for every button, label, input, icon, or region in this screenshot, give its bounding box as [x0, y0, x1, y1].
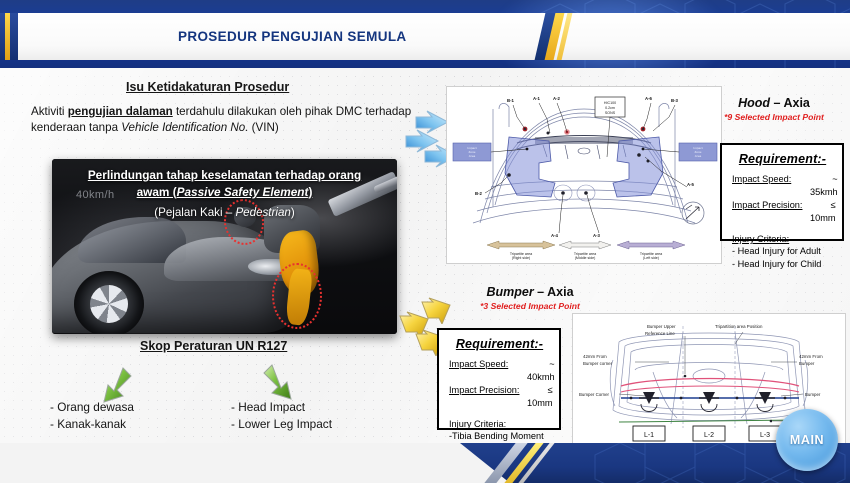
svg-text:HIC100: HIC100 [604, 101, 616, 105]
svg-text:42mm From: 42mm From [583, 354, 607, 359]
svg-text:L-3: L-3 [760, 432, 770, 439]
header-left-accent [5, 13, 10, 60]
scope-list-left: - Orang dewasa - Kanak-kanak [50, 399, 134, 433]
bumper-requirement-box: Requirement:- Impact Speed: ~ 40kmh Impa… [437, 328, 561, 430]
bumper-req-value: ≤ 10mm [527, 384, 555, 410]
photo-title: Perlindungan tahap keselamatan terhadap … [52, 167, 397, 201]
photo-sub-end: ) [291, 206, 295, 219]
photo-title-line2-plain: awam ( [137, 185, 177, 199]
bumper-title-rest: – Axia [534, 285, 574, 299]
list-item: - Head Impact [231, 399, 332, 416]
svg-text:A-3: A-3 [593, 233, 601, 238]
svg-text:A-1: A-1 [533, 96, 541, 101]
issue-text-3: (VIN) [248, 121, 278, 134]
svg-text:B-2: B-2 [475, 191, 483, 196]
svg-text:(Left side): (Left side) [643, 256, 659, 260]
svg-text:Bumper corner: Bumper corner [583, 361, 613, 366]
svg-text:L-2: L-2 [704, 432, 714, 439]
hood-req-value: ~ 35kmh [810, 173, 840, 199]
bumper-req-key: Impact Precision: [449, 384, 527, 410]
page-title: PROSEDUR PENGUJIAN SEMULA [178, 29, 598, 44]
photo-subtitle: (Pejalan Kaki – Pedestrian) [52, 206, 397, 219]
bumper-requirement-heading: Requirement:- [449, 337, 550, 351]
photo-sub-plain: (Pejalan Kaki – [154, 206, 235, 219]
svg-text:Tripartition area Position: Tripartition area Position [715, 324, 763, 329]
photo-title-line1: Perlindungan tahap keselamatan terhadap … [88, 168, 361, 182]
hood-req-key: Impact Precision: [732, 199, 810, 225]
scope-list-right: - Head Impact - Lower Leg Impact [231, 399, 332, 433]
hood-criteria-item: - Head Injury for Adult [732, 245, 833, 258]
svg-text:B-1: B-1 [507, 98, 515, 103]
hood-criteria-item: - Head Injury for Child [732, 258, 833, 271]
svg-text:A-5: A-5 [687, 182, 695, 187]
bumper-criteria-item: -Tibia Bending Moment [449, 430, 550, 443]
svg-text:L-1: L-1 [644, 432, 654, 439]
footer-white-plate [0, 443, 530, 483]
svg-text:A-4: A-4 [551, 233, 559, 238]
issue-paragraph: Aktiviti pengujian dalaman terdahulu dil… [31, 104, 431, 136]
svg-text:0.2cm: 0.2cm [605, 106, 615, 110]
issue-text-bold: pengujian dalaman [68, 105, 173, 118]
svg-text:Area: Area [469, 154, 476, 158]
scope-heading: Skop Peraturan UN R127 [140, 339, 287, 353]
main-nav-button[interactable]: MAIN [776, 409, 838, 471]
car-wheel-shape [74, 271, 144, 334]
slide-canvas: PROSEDUR PENGUJIAN SEMULA Isu Ketidakatu… [0, 0, 850, 483]
hood-req-key: Impact Speed: [732, 173, 810, 199]
hood-title-rest: – Axia [770, 96, 810, 110]
hood-section-subtitle: *9 Selected Impact Point [704, 112, 844, 122]
svg-text:Bumper: Bumper [799, 361, 815, 366]
bumper-criteria-heading: Injury Criteria: [449, 419, 550, 429]
hood-title-italic: Hood [738, 96, 770, 110]
hood-section-title: Hood – Axia [704, 96, 844, 110]
bumper-req-row: Impact Speed: ~ 40kmh [449, 358, 550, 384]
svg-text:(Right side): (Right side) [512, 256, 530, 260]
list-item: - Kanak-kanak [50, 416, 134, 433]
svg-text:Bumper Corner: Bumper Corner [579, 392, 610, 397]
bumper-section-title: Bumper – Axia [455, 285, 605, 299]
bumper-title-italic: Bumper [486, 285, 533, 299]
hood-diagram-svg: HIC100 0.2cm SONS Impact Zone Area Impac… [447, 87, 721, 263]
photo-sub-italic: Pedestrian [235, 206, 290, 219]
bumper-req-row: Impact Precision: ≤ 10mm [449, 384, 550, 410]
hood-impact-diagram: HIC100 0.2cm SONS Impact Zone Area Impac… [446, 86, 722, 264]
svg-text:Bumper Upper: Bumper Upper [647, 324, 676, 329]
leg-impact-highlight-circle [272, 263, 322, 329]
svg-text:Reference Line: Reference Line [645, 331, 675, 336]
photo-title-line2-italic: Passive Safety Element [177, 185, 309, 199]
bumper-req-key: Impact Speed: [449, 358, 527, 384]
list-item: - Lower Leg Impact [231, 416, 332, 433]
issue-heading: Isu Ketidakaturan Prosedur [126, 80, 289, 94]
hood-criteria-heading: Injury Criteria: [732, 234, 833, 244]
issue-text-italic: Vehicle Identification No. [121, 121, 248, 134]
pedestrian-test-photo: 40km/h Perlindungan tahap keselamatan te… [52, 159, 397, 334]
bumper-section-subtitle: *3 Selected Impact Point [455, 301, 605, 311]
issue-text-1: Aktiviti [31, 105, 68, 118]
svg-text:Bumper: Bumper [805, 392, 821, 397]
photo-title-line2-end: ) [308, 185, 312, 199]
hood-req-value: ≤ 10mm [810, 199, 838, 225]
svg-text:A-2: A-2 [553, 96, 561, 101]
hood-req-row: Impact Speed: ~ 35kmh [732, 173, 833, 199]
hood-req-row: Impact Precision: ≤ 10mm [732, 199, 833, 225]
svg-text:(Middle side): (Middle side) [575, 256, 596, 260]
hood-requirement-box: Requirement:- Impact Speed: ~ 35kmh Impa… [720, 143, 844, 241]
svg-text:B-3: B-3 [671, 98, 679, 103]
svg-text:Area: Area [695, 154, 702, 158]
svg-text:A-6: A-6 [645, 96, 653, 101]
svg-text:42mm From: 42mm From [799, 354, 823, 359]
hood-requirement-heading: Requirement:- [732, 152, 833, 166]
svg-text:SONS: SONS [605, 111, 616, 115]
bumper-req-value: ~ 40kmh [527, 358, 557, 384]
list-item: - Orang dewasa [50, 399, 134, 416]
